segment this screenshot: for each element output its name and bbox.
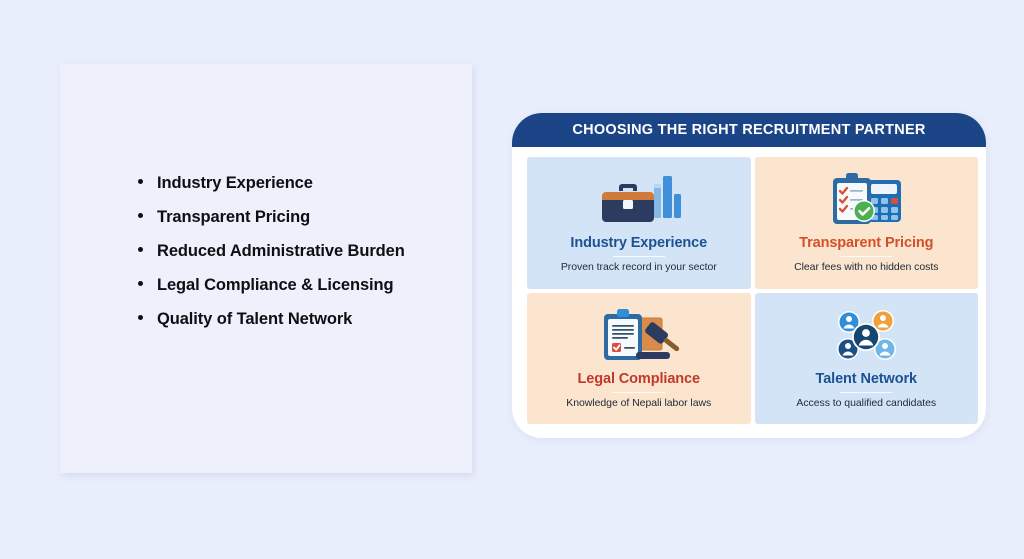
- bullet-dot-icon: [138, 179, 143, 184]
- tile-divider: [840, 392, 892, 393]
- tile-subtitle: Access to qualified candidates: [796, 397, 936, 409]
- tile-title: Industry Experience: [570, 235, 707, 251]
- list-item: Industry Experience: [138, 174, 405, 193]
- list-item: Quality of Talent Network: [138, 310, 405, 329]
- tile-legal-compliance[interactable]: Legal Compliance Knowledge of Nepali lab…: [527, 293, 751, 425]
- bullet-list-card: Industry Experience Transparent Pricing …: [60, 64, 472, 473]
- clipboard-calculator-check-icon: [823, 167, 909, 233]
- tile-industry-experience[interactable]: Industry Experience Proven track record …: [527, 157, 751, 289]
- briefcase-chart-icon: [596, 167, 682, 233]
- list-item: Transparent Pricing: [138, 208, 405, 227]
- list-item-label: Legal Compliance & Licensing: [157, 276, 394, 295]
- list-item-label: Quality of Talent Network: [157, 310, 352, 329]
- bullet-dot-icon: [138, 281, 143, 286]
- tile-divider: [613, 392, 665, 393]
- benefits-bullet-list: Industry Experience Transparent Pricing …: [138, 174, 405, 344]
- tile-talent-network[interactable]: Talent Network Access to qualified candi…: [755, 293, 979, 425]
- tile-title: Talent Network: [816, 371, 917, 387]
- tile-title: Legal Compliance: [578, 371, 701, 387]
- tile-subtitle: Knowledge of Nepali labor laws: [566, 397, 711, 409]
- infographic-card: CHOOSING THE RIGHT RECRUITMENT PARTNER I…: [512, 113, 986, 438]
- bullet-dot-icon: [138, 213, 143, 218]
- tile-divider: [613, 256, 665, 257]
- tile-subtitle: Proven track record in your sector: [561, 261, 717, 273]
- infographic-title: CHOOSING THE RIGHT RECRUITMENT PARTNER: [572, 122, 925, 138]
- people-network-icon: [823, 303, 909, 369]
- list-item: Reduced Administrative Burden: [138, 242, 405, 261]
- bullet-dot-icon: [138, 315, 143, 320]
- tile-title: Transparent Pricing: [799, 235, 933, 251]
- bullet-dot-icon: [138, 247, 143, 252]
- list-item: Legal Compliance & Licensing: [138, 276, 405, 295]
- list-item-label: Reduced Administrative Burden: [157, 242, 405, 261]
- clipboard-gavel-icon: [596, 303, 682, 369]
- tile-transparent-pricing[interactable]: Transparent Pricing Clear fees with no h…: [755, 157, 979, 289]
- infographic-header: CHOOSING THE RIGHT RECRUITMENT PARTNER: [512, 113, 986, 147]
- list-item-label: Industry Experience: [157, 174, 313, 193]
- list-item-label: Transparent Pricing: [157, 208, 310, 227]
- tile-divider: [840, 256, 892, 257]
- infographic-tile-grid: Industry Experience Proven track record …: [527, 157, 978, 424]
- tile-subtitle: Clear fees with no hidden costs: [794, 261, 938, 273]
